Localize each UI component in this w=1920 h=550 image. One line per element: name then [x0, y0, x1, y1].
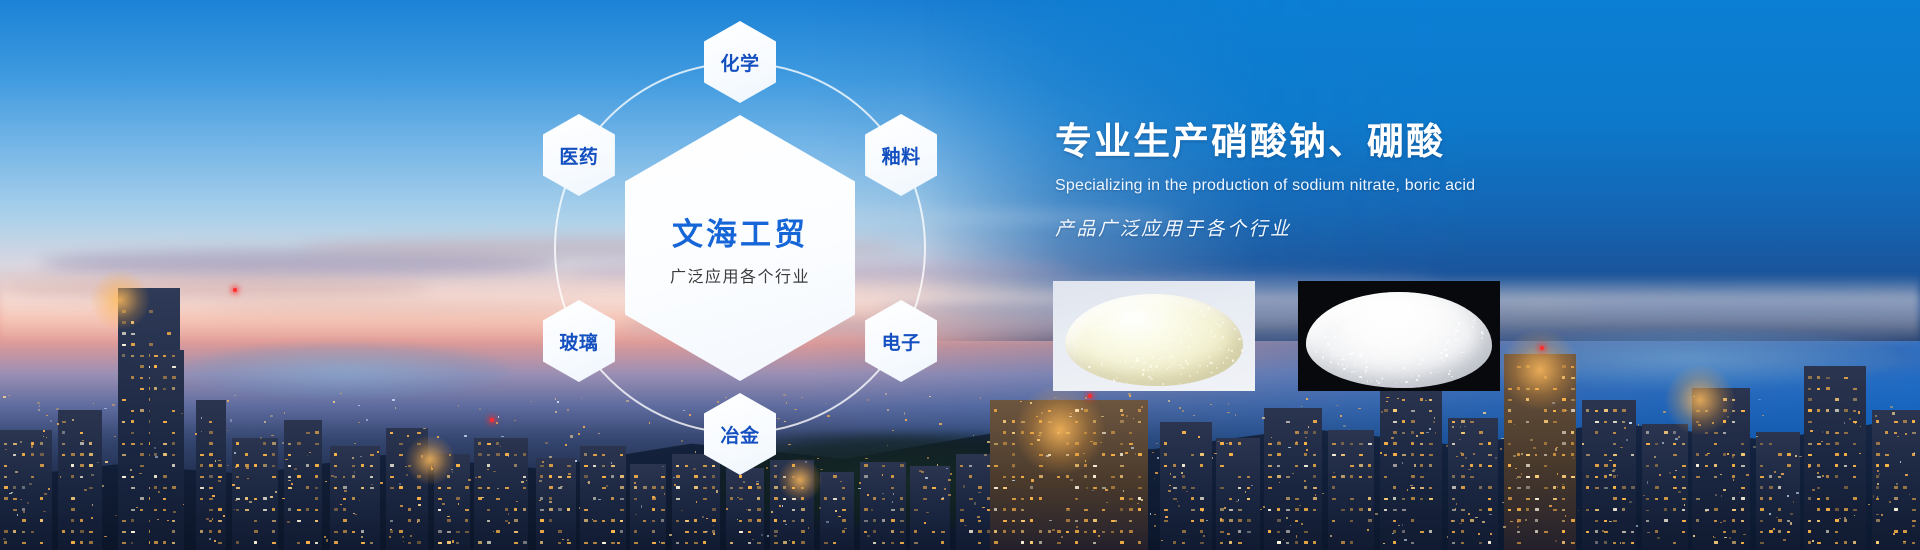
window-light	[140, 453, 144, 456]
distant-light	[588, 481, 590, 484]
distant-light	[282, 498, 285, 499]
window-light	[1876, 519, 1880, 522]
distant-light	[325, 481, 327, 482]
window-light	[40, 519, 43, 522]
distant-light	[1762, 415, 1764, 416]
window-light	[960, 465, 963, 467]
window-light	[842, 530, 845, 533]
window-light	[1526, 498, 1530, 500]
window-light	[1760, 497, 1763, 500]
window-light	[1613, 409, 1617, 412]
distant-light	[617, 542, 620, 544]
window-light	[288, 465, 291, 467]
window-light	[1313, 420, 1317, 423]
distant-light	[56, 408, 59, 410]
window-light	[1571, 409, 1575, 412]
window-light	[1229, 498, 1232, 500]
distant-light	[1336, 405, 1339, 406]
window-light	[334, 508, 338, 511]
window-light	[89, 487, 93, 489]
distant-light	[1889, 501, 1891, 503]
distant-light	[568, 473, 571, 475]
window-light	[131, 443, 135, 445]
window-light	[792, 509, 795, 511]
window-light	[172, 432, 175, 434]
window-light	[71, 508, 75, 511]
window-light	[783, 541, 787, 544]
powder-granule	[1213, 350, 1215, 351]
window-light	[1826, 387, 1830, 390]
window-light	[71, 464, 74, 467]
window-light	[783, 498, 786, 500]
window-light	[932, 487, 936, 489]
window-light	[1470, 519, 1474, 522]
window-light	[567, 508, 570, 511]
window-light	[1835, 508, 1839, 511]
window-light	[1411, 431, 1414, 434]
window-light	[408, 508, 411, 511]
window-light	[1562, 530, 1565, 533]
window-light	[864, 508, 868, 511]
distant-light	[1452, 426, 1454, 428]
window-light	[1411, 487, 1415, 489]
window-light	[163, 355, 166, 357]
distant-light	[1609, 460, 1612, 461]
window-light	[1393, 421, 1397, 423]
window-light	[140, 388, 144, 390]
distant-light	[1892, 412, 1895, 415]
window-light	[1817, 542, 1821, 544]
powder-granule	[1215, 335, 1216, 337]
window-light	[1111, 476, 1115, 478]
window-light	[1138, 476, 1141, 478]
window-light	[694, 475, 698, 478]
distant-light	[44, 493, 47, 495]
distant-light	[91, 474, 94, 477]
window-light	[1853, 465, 1856, 467]
powder-granule	[1324, 336, 1326, 338]
distant-light	[1447, 536, 1448, 538]
distant-light	[696, 501, 697, 503]
window-light	[694, 519, 697, 522]
powder-granule	[1150, 378, 1153, 380]
window-light	[1420, 454, 1424, 456]
window-light	[315, 509, 318, 511]
powder-granule	[1375, 313, 1376, 315]
distant-light	[1383, 543, 1385, 544]
window-light	[1714, 464, 1717, 467]
window-light	[1268, 487, 1272, 489]
powder-granule	[1155, 365, 1157, 367]
distant-light	[1380, 452, 1382, 454]
powder-granule	[1151, 340, 1152, 341]
window-light	[1553, 410, 1556, 412]
powder-granule	[1181, 367, 1183, 369]
distant-light	[1790, 513, 1793, 515]
window-light	[172, 486, 176, 489]
distant-light	[496, 422, 498, 424]
window-light	[1778, 530, 1781, 533]
window-light	[620, 498, 624, 500]
distant-light	[1098, 535, 1100, 537]
window-light	[1066, 519, 1070, 522]
distant-light	[1397, 398, 1399, 399]
window-light	[209, 487, 213, 489]
window-light	[1384, 442, 1388, 445]
window-light	[496, 530, 500, 533]
distant-light	[756, 481, 759, 482]
distant-light	[1086, 487, 1088, 489]
distant-light	[978, 492, 981, 494]
window-light	[1673, 508, 1676, 511]
window-light	[1479, 542, 1482, 544]
window-light	[1411, 420, 1415, 423]
window-light	[297, 542, 300, 544]
light-glow	[90, 270, 150, 330]
distant-light	[1489, 514, 1492, 515]
distant-light	[977, 516, 980, 518]
window-light	[1835, 453, 1839, 456]
distant-light	[974, 502, 976, 505]
distant-light	[481, 497, 484, 498]
window-light	[1673, 431, 1676, 434]
window-light	[1332, 486, 1335, 489]
distant-light	[1483, 412, 1486, 414]
window-light	[1844, 486, 1848, 489]
window-light	[131, 376, 134, 379]
window-light	[1402, 454, 1406, 456]
window-light	[1057, 476, 1060, 478]
distant-light	[673, 477, 675, 478]
distant-light	[1629, 422, 1632, 424]
hex-node-label: 医药	[559, 142, 598, 169]
window-light	[209, 509, 213, 511]
window-light	[1229, 442, 1232, 445]
distant-light	[1647, 532, 1650, 533]
window-light	[172, 520, 175, 522]
window-light	[4, 476, 7, 478]
distant-light	[1609, 474, 1612, 476]
window-light	[1664, 431, 1668, 434]
window-light	[914, 530, 917, 533]
window-light	[163, 487, 167, 489]
distant-light	[114, 436, 116, 437]
window-light	[1778, 519, 1782, 522]
distant-light	[567, 539, 569, 542]
window-light	[1769, 486, 1773, 489]
distant-light	[354, 443, 356, 445]
window-light	[685, 520, 689, 522]
powder-granule	[1355, 351, 1356, 352]
window-light	[1741, 542, 1744, 544]
window-light	[254, 541, 257, 544]
window-light	[676, 486, 680, 489]
window-light	[149, 343, 153, 346]
window-light	[1682, 476, 1685, 478]
distant-light	[1154, 525, 1156, 527]
window-light	[172, 355, 175, 357]
distant-light	[464, 435, 467, 437]
powder-granule	[1340, 323, 1341, 325]
window-light	[801, 508, 805, 511]
window-light	[1182, 486, 1186, 489]
window-light	[1138, 421, 1141, 423]
window-light	[1526, 464, 1530, 467]
window-light	[1696, 453, 1699, 456]
window-light	[1138, 453, 1142, 456]
window-light	[1429, 443, 1433, 445]
window-light	[1732, 509, 1736, 511]
window-light	[465, 509, 469, 511]
window-light	[1741, 497, 1745, 500]
distant-light	[926, 512, 929, 513]
window-light	[1084, 509, 1088, 511]
window-light	[1664, 508, 1667, 511]
powder-granule	[1351, 311, 1354, 313]
building	[196, 400, 226, 550]
headline-block: 专业生产硝酸钠、硼酸 Specializing in the productio…	[1055, 120, 1695, 241]
distant-light	[285, 459, 288, 460]
powder-granule	[1074, 354, 1075, 356]
window-light	[842, 519, 846, 522]
powder-granule	[1135, 361, 1136, 362]
distant-light	[233, 509, 235, 511]
distant-light	[227, 465, 229, 467]
window-light	[1714, 476, 1717, 478]
window-light	[661, 542, 665, 544]
window-light	[1093, 542, 1096, 544]
window-light	[1526, 454, 1530, 456]
distant-light	[1306, 449, 1308, 452]
window-light	[1075, 520, 1078, 522]
distant-light	[1517, 526, 1519, 528]
window-light	[1313, 509, 1316, 511]
window-light	[1595, 476, 1598, 478]
window-light	[1220, 487, 1224, 489]
window-light	[1066, 475, 1069, 478]
distant-light	[294, 468, 297, 470]
distant-light	[39, 405, 40, 408]
window-light	[131, 355, 134, 357]
window-light	[1835, 531, 1838, 533]
powder-granule	[1344, 368, 1346, 370]
window-light	[1553, 509, 1557, 511]
powder-granule	[1398, 303, 1400, 305]
window-light	[1191, 520, 1194, 522]
light-glow	[405, 435, 455, 485]
distant-light	[1533, 447, 1536, 449]
window-light	[1760, 531, 1763, 533]
window-light	[140, 377, 143, 379]
window-light	[703, 487, 707, 489]
window-light	[1562, 509, 1565, 511]
window-light	[167, 332, 171, 335]
building	[910, 466, 950, 550]
powder-granule	[1207, 365, 1209, 366]
distant-light	[1049, 520, 1052, 521]
window-light	[1544, 454, 1547, 456]
window-light	[842, 509, 846, 511]
window-light	[1622, 498, 1626, 500]
window-light	[1313, 487, 1317, 489]
window-light	[154, 387, 157, 390]
powder-granule	[1075, 336, 1077, 339]
distant-light	[1459, 523, 1462, 524]
window-light	[1057, 530, 1061, 533]
window-light	[1535, 508, 1539, 511]
distant-light	[8, 395, 10, 397]
distant-light	[925, 477, 928, 479]
window-light	[1613, 475, 1616, 478]
window-light	[1350, 508, 1353, 511]
distant-light	[418, 504, 421, 506]
window-light	[306, 464, 309, 467]
window-light	[1604, 541, 1607, 544]
window-light	[1876, 442, 1880, 445]
window-light	[1402, 420, 1405, 423]
window-light	[584, 542, 588, 544]
window-light	[1853, 388, 1857, 390]
distant-light	[1168, 490, 1171, 493]
window-light	[1553, 453, 1556, 456]
window-light	[1341, 454, 1345, 456]
distant-light	[72, 419, 74, 421]
distant-light	[1407, 489, 1408, 491]
window-light	[1826, 475, 1829, 478]
window-light	[390, 520, 393, 522]
window-light	[140, 497, 144, 500]
product-photo-sodium-nitrate[interactable]	[1053, 281, 1255, 391]
window-light	[661, 519, 664, 522]
window-light	[1631, 486, 1635, 489]
distant-light	[270, 496, 273, 498]
window-light	[80, 453, 84, 456]
window-light	[1817, 464, 1820, 467]
window-light	[149, 310, 153, 313]
window-light	[1595, 421, 1599, 423]
window-light	[200, 454, 204, 456]
hex-node-label: 玻璃	[559, 328, 598, 355]
distant-light	[716, 490, 718, 493]
window-light	[1238, 542, 1242, 544]
powder-granule	[1234, 328, 1236, 330]
window-light	[131, 531, 135, 533]
window-light	[1508, 497, 1512, 500]
window-light	[315, 431, 319, 434]
window-light	[1341, 541, 1345, 544]
window-light	[774, 475, 777, 478]
window-light	[1604, 520, 1607, 522]
window-light	[1238, 530, 1241, 533]
window-light	[1420, 443, 1423, 445]
window-light	[873, 542, 876, 544]
window-light	[1853, 410, 1856, 412]
window-light	[1277, 453, 1281, 456]
window-light	[122, 421, 125, 423]
distant-light	[3, 538, 6, 540]
window-light	[218, 464, 222, 467]
distant-light	[38, 409, 40, 411]
product-photo-boric-acid[interactable]	[1298, 281, 1500, 391]
window-light	[122, 399, 126, 401]
window-light	[1723, 432, 1726, 434]
powder-granule	[1226, 357, 1227, 359]
window-light	[1571, 453, 1574, 456]
window-light	[1164, 453, 1167, 456]
distant-light	[417, 521, 418, 523]
distant-light	[361, 536, 363, 538]
window-light	[131, 476, 134, 478]
window-light	[783, 520, 786, 522]
window-light	[1732, 464, 1735, 467]
window-light	[1894, 508, 1898, 511]
window-light	[1411, 519, 1414, 522]
window-light	[288, 443, 291, 445]
distant-light	[1031, 497, 1033, 499]
window-light	[40, 464, 44, 467]
window-light	[1613, 542, 1616, 544]
window-light	[774, 530, 778, 533]
window-light	[1277, 531, 1280, 533]
powder-granule	[1336, 355, 1338, 356]
distant-light	[1781, 473, 1784, 475]
window-light	[1304, 508, 1308, 511]
distant-light	[1271, 437, 1272, 439]
window-light	[1295, 431, 1299, 434]
distant-light	[1776, 517, 1778, 518]
window-light	[1562, 475, 1566, 478]
window-light	[71, 475, 74, 478]
distant-light	[516, 501, 518, 502]
window-light	[1182, 431, 1186, 434]
distant-light	[1657, 537, 1660, 539]
distant-light	[1125, 452, 1128, 454]
window-light	[891, 530, 894, 533]
window-light	[1479, 464, 1482, 467]
window-light	[288, 508, 291, 511]
window-light	[593, 497, 596, 500]
window-light	[4, 541, 7, 544]
window-light	[1452, 475, 1455, 478]
powder-granule	[1414, 324, 1416, 326]
window-light	[1238, 519, 1242, 522]
distant-light	[1137, 503, 1139, 504]
window-light	[1120, 453, 1123, 456]
powder-granule	[1149, 304, 1150, 307]
window-light	[272, 453, 275, 456]
distant-light	[1299, 505, 1301, 506]
powder-granule	[1076, 346, 1078, 349]
distant-light	[613, 531, 615, 533]
powder-granule	[1434, 313, 1437, 316]
window-light	[1120, 465, 1124, 467]
window-light	[1631, 531, 1634, 533]
window-light	[1093, 530, 1096, 533]
window-light	[1826, 530, 1829, 533]
distant-light	[1286, 517, 1288, 519]
distant-light	[820, 469, 823, 471]
window-light	[757, 497, 760, 500]
distant-light	[284, 412, 285, 414]
distant-light	[11, 492, 13, 493]
window-light	[1673, 542, 1676, 544]
window-light	[408, 519, 411, 522]
distant-light	[230, 419, 232, 422]
window-light	[549, 486, 553, 489]
window-light	[1429, 464, 1432, 467]
distant-light	[1774, 471, 1776, 473]
window-light	[1817, 388, 1820, 390]
